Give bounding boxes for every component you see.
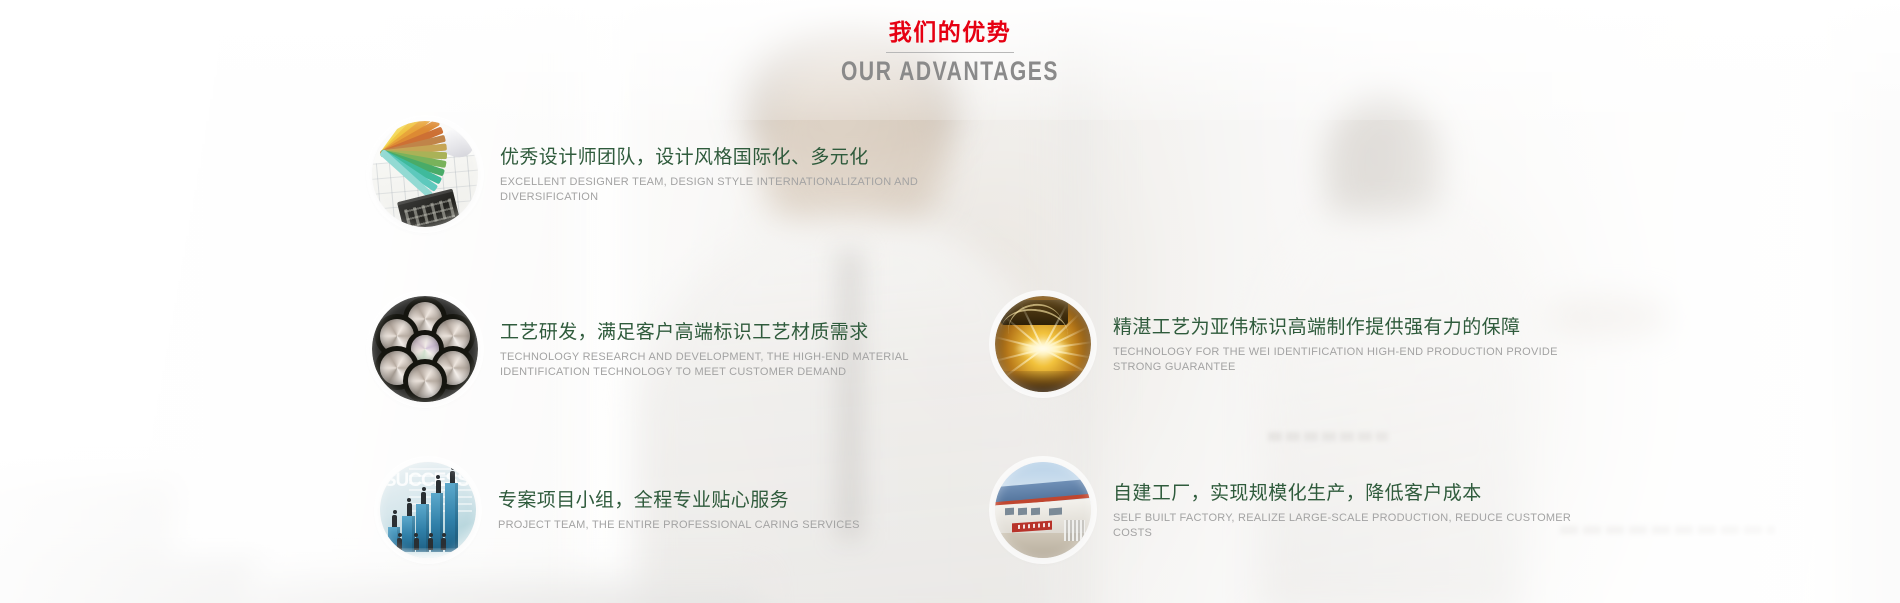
feature-title-technology-rd: 工艺研发，满足客户高端标识工艺材质需求: [500, 319, 970, 345]
metal-tubes-thumbnail: [372, 296, 478, 402]
feature-title-designer-team: 优秀设计师团队，设计风格国际化、多元化: [500, 144, 970, 170]
feature-desc-technology-rd: TECHNOLOGY RESEARCH AND DEVELOPMENT, THE…: [500, 350, 970, 379]
feature-title-project-team: 专案项目小组，全程专业贴心服务: [498, 487, 860, 513]
feature-text-craftsmanship-guarantee: 精湛工艺为亚伟标识高端制作提供强有力的保障 TECHNOLOGY FOR THE…: [1091, 314, 1583, 374]
feature-desc-project-team: PROJECT TEAM, THE ENTIRE PROFESSIONAL CA…: [498, 518, 860, 533]
page-title-english: OUR ADVANTAGES: [209, 55, 1691, 87]
feature-item-project-team[interactable]: SUCCESS: [380, 462, 860, 558]
feature-desc-self-built-factory: SELF BUILT FACTORY, REALIZE LARGE-SCALE …: [1113, 511, 1583, 540]
advantages-section: 我们的优势 OUR ADVANTAGES: [0, 0, 1900, 603]
feature-item-technology-rd[interactable]: 工艺研发，满足客户高端标识工艺材质需求 TECHNOLOGY RESEARCH …: [372, 296, 970, 402]
feature-text-designer-team: 优秀设计师团队，设计风格国际化、多元化 EXCELLENT DESIGNER T…: [478, 144, 970, 204]
feature-title-craftsmanship-guarantee: 精湛工艺为亚伟标识高端制作提供强有力的保障: [1113, 314, 1583, 340]
business-people-bar-chart-thumbnail: SUCCESS: [380, 462, 476, 558]
feature-item-designer-team[interactable]: 优秀设计师团队，设计风格国际化、多元化 EXCELLENT DESIGNER T…: [372, 121, 970, 227]
title-divider: [886, 52, 1014, 53]
feature-item-self-built-factory[interactable]: 自建工厂，实现规模化生产，降低客户成本 SELF BUILT FACTORY, …: [995, 462, 1583, 558]
factory-building-thumbnail: [995, 462, 1091, 558]
page-title-chinese: 我们的优势: [0, 18, 1900, 48]
feature-desc-designer-team: EXCELLENT DESIGNER TEAM, DESIGN STYLE IN…: [500, 175, 970, 204]
feature-desc-craftsmanship-guarantee: TECHNOLOGY FOR THE WEI IDENTIFICATION HI…: [1113, 345, 1583, 374]
feature-title-self-built-factory: 自建工厂，实现规模化生产，降低客户成本: [1113, 480, 1583, 506]
section-header: 我们的优势 OUR ADVANTAGES: [0, 18, 1900, 87]
feature-text-self-built-factory: 自建工厂，实现规模化生产，降低客户成本 SELF BUILT FACTORY, …: [1091, 480, 1583, 540]
feature-item-craftsmanship-guarantee[interactable]: 精湛工艺为亚伟标识高端制作提供强有力的保障 TECHNOLOGY FOR THE…: [995, 296, 1583, 392]
laser-cutting-sparks-thumbnail: [995, 296, 1091, 392]
color-swatch-fan-blueprint-thumbnail: [372, 121, 478, 227]
feature-text-project-team: 专案项目小组，全程专业贴心服务 PROJECT TEAM, THE ENTIRE…: [476, 487, 860, 533]
feature-text-technology-rd: 工艺研发，满足客户高端标识工艺材质需求 TECHNOLOGY RESEARCH …: [478, 319, 970, 379]
